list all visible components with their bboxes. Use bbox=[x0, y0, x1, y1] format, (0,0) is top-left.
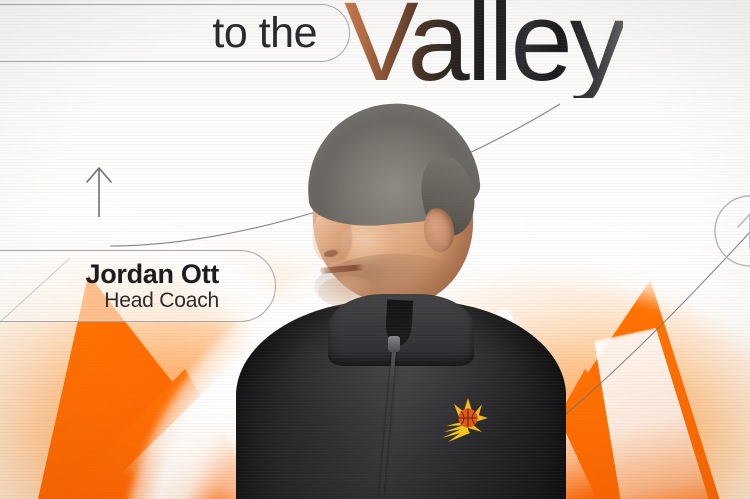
circle-arrow-icon bbox=[712, 193, 750, 269]
valley-wordmark: Valley bbox=[344, 0, 623, 98]
coach-name: Jordan Ott bbox=[85, 260, 219, 289]
phoenix-suns-logo bbox=[434, 392, 498, 456]
coach-title: Head Coach bbox=[104, 289, 219, 312]
to-the-pill: to the bbox=[0, 4, 350, 62]
jacket-zipper-pull bbox=[388, 336, 400, 352]
coach-portrait bbox=[236, 104, 566, 499]
name-card-pill: Jordan Ott Head Coach bbox=[0, 250, 276, 322]
graphic-canvas: to the Valley Jordan Ott Head Coach bbox=[0, 0, 750, 499]
arrow-up-icon bbox=[82, 163, 116, 219]
to-the-text: to the bbox=[212, 12, 317, 55]
